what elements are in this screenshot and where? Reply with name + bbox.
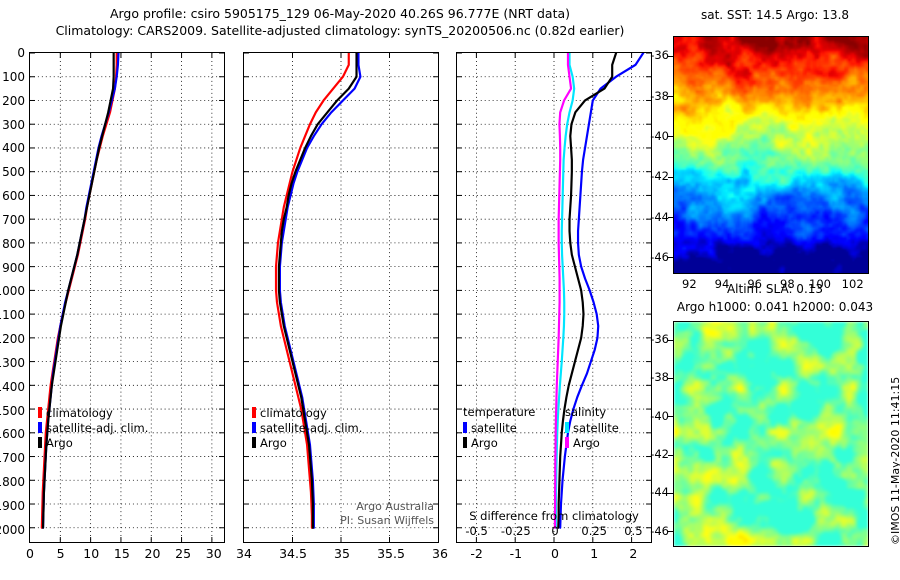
map-sla-lat-label: -36 [643, 332, 669, 346]
map-lat-tickmark [668, 416, 673, 417]
x-tick-label: 0 [26, 546, 34, 561]
legend-label: climatology [260, 406, 327, 420]
x-tick-label: 0.25 [581, 524, 607, 538]
legend-salinity-group: salinity satelliteArgo [565, 405, 619, 450]
legend-swatch [565, 437, 569, 448]
depth-tick-label: 200 [2, 94, 25, 108]
panel-salinity: climatologysatellite-adj. clim.Argo Argo… [243, 52, 439, 543]
panel-temperature-curves [30, 53, 224, 542]
x-tick-label: -2 [470, 546, 482, 561]
legend-item: Argo [463, 435, 535, 450]
map-sst-lat-label: -38 [643, 89, 669, 103]
x-tick-label: 34 [236, 546, 252, 561]
map-sst-lat-label: -46 [643, 250, 669, 264]
x-tick-label: 5 [57, 546, 65, 561]
legend-swatch [252, 407, 256, 418]
imos-credit: ©IMOS 11-May-2020 11:41:15 [889, 377, 900, 545]
map-lat-tickmark [668, 56, 673, 57]
panel-difference-bottom-label: S difference from climatology [469, 509, 639, 523]
x-tick-label: 25 [175, 546, 191, 561]
map-sst-lat-label: -44 [643, 210, 669, 224]
legend-label: satellite [573, 421, 619, 435]
legend-label: climatology [46, 406, 113, 420]
panel-temperature: climatologysatellite-adj. clim.Argo 0100… [29, 52, 225, 543]
x-tick-label: -0.25 [501, 524, 531, 538]
map-sla-lat-label: -46 [643, 524, 669, 538]
depth-tick-label: 1400 [0, 380, 25, 394]
legend-label: Argo [46, 436, 73, 450]
map-sla-title-line2: Argo h1000: 0.041 h2000: 0.043 [655, 300, 895, 314]
legend-label: Argo [471, 436, 498, 450]
depth-tick-label: 600 [2, 189, 25, 203]
page-title-line1: Argo profile: csiro 5905175_129 06-May-2… [0, 6, 680, 21]
legend-item: Argo [252, 435, 362, 450]
map-sla-lat-label: -40 [643, 409, 669, 423]
legend-swatch [463, 437, 467, 448]
legend-item: climatology [252, 405, 362, 420]
x-tick-label: 0 [551, 524, 558, 538]
map-lon-label: 98 [780, 277, 795, 291]
legend-label: satellite-adj. clim. [46, 421, 148, 435]
depth-tick-label: 300 [2, 118, 25, 132]
depth-tick-label: 2000 [0, 523, 25, 537]
depth-tick-label: 1200 [0, 332, 25, 346]
map-lat-tickmark [668, 177, 673, 178]
legend-temperature-group: temperature satelliteArgo [463, 405, 535, 450]
legend-label: satellite-adj. clim. [260, 421, 362, 435]
depth-tick-label: 0 [17, 46, 25, 60]
panel-salinity-curves [244, 53, 438, 542]
map-sla [673, 321, 869, 547]
map-lat-tickmark [668, 340, 673, 341]
map-sla-lat-label: -42 [643, 447, 669, 461]
depth-tick-label: 900 [2, 261, 25, 275]
argo-attribution-pi: PI: Susan Wijffels [340, 514, 434, 528]
argo-attribution: Argo Australia PI: Susan Wijffels [340, 500, 434, 528]
panel-difference: temperature satelliteArgo salinity satel… [456, 52, 652, 543]
map-lat-tickmark [668, 96, 673, 97]
legend-swatch [252, 422, 256, 433]
map-sst-lat-label: -36 [643, 48, 669, 62]
legend-swatch [38, 437, 42, 448]
depth-tick-label: 700 [2, 213, 25, 227]
map-sst-lat-label: -42 [643, 169, 669, 183]
depth-tick-label: 1100 [0, 308, 25, 322]
legend-salinity-title: salinity [565, 405, 619, 419]
map-lon-label: 102 [842, 277, 864, 291]
map-lon-label: 100 [809, 277, 831, 291]
panel-temperature-legend: climatologysatellite-adj. clim.Argo [38, 405, 148, 450]
x-tick-label: 36 [432, 546, 448, 561]
legend-swatch [38, 407, 42, 418]
legend-label: satellite [471, 421, 517, 435]
x-tick-label: 35.5 [377, 546, 405, 561]
depth-tick-label: 1600 [0, 427, 25, 441]
map-lat-tickmark [668, 378, 673, 379]
map-sst [673, 36, 869, 274]
depth-tick-label: 500 [2, 165, 25, 179]
map-sla-lat-label: -38 [643, 370, 669, 384]
legend-item: satellite [463, 420, 535, 435]
x-tick-label: 0.5 [624, 524, 642, 538]
x-tick-label: -0.5 [465, 524, 487, 538]
map-lon-label: 92 [682, 277, 697, 291]
page-title-line2: Climatology: CARS2009. Satellite-adjuste… [0, 23, 680, 38]
map-sst-title: sat. SST: 14.5 Argo: 13.8 [660, 8, 890, 22]
legend-item: satellite-adj. clim. [38, 420, 148, 435]
legend-item: climatology [38, 405, 148, 420]
map-sst-lat-label: -40 [643, 129, 669, 143]
x-tick-label: 20 [145, 546, 161, 561]
map-lat-tickmark [668, 257, 673, 258]
map-lon-label: 96 [747, 277, 762, 291]
x-tick-label: 34.5 [279, 546, 307, 561]
legend-item: Argo [38, 435, 148, 450]
legend-swatch [463, 422, 467, 433]
depth-tick-label: 1700 [0, 451, 25, 465]
depth-tick-label: 1300 [0, 356, 25, 370]
legend-item: Argo [565, 435, 619, 450]
depth-tick-label: 400 [2, 141, 25, 155]
x-tick-label: 15 [114, 546, 130, 561]
x-tick-label: 10 [83, 546, 99, 561]
map-lat-tickmark [668, 136, 673, 137]
legend-swatch [565, 422, 569, 433]
x-tick-label: 1 [590, 546, 598, 561]
legend-item: satellite-adj. clim. [252, 420, 362, 435]
x-tick-label: 0 [551, 546, 559, 561]
x-tick-label: -1 [510, 546, 522, 561]
map-sst-canvas [674, 37, 868, 273]
depth-tick-label: 1000 [0, 284, 25, 298]
legend-label: Argo [573, 436, 600, 450]
legend-swatch [252, 437, 256, 448]
map-lon-label: 94 [715, 277, 730, 291]
x-tick-label: 30 [206, 546, 222, 561]
argo-attribution-org: Argo Australia [340, 500, 434, 514]
legend-label: Argo [260, 436, 287, 450]
map-lat-tickmark [668, 217, 673, 218]
legend-temperature-title: temperature [463, 405, 535, 419]
legend-item: satellite [565, 420, 619, 435]
panel-salinity-legend: climatologysatellite-adj. clim.Argo [252, 405, 362, 450]
depth-tick-label: 100 [2, 70, 25, 84]
map-sla-canvas [674, 322, 868, 546]
x-tick-label: 2 [629, 546, 637, 561]
depth-tick-label: 1800 [0, 475, 25, 489]
x-tick-label: 35 [334, 546, 350, 561]
map-lat-tickmark [668, 455, 673, 456]
depth-tick-label: 1500 [0, 404, 25, 418]
map-lat-tickmark [668, 493, 673, 494]
map-lat-tickmark [668, 531, 673, 532]
map-sla-lat-label: -44 [643, 485, 669, 499]
panel-difference-curves [457, 53, 651, 542]
depth-tick-label: 1900 [0, 499, 25, 513]
depth-tick-label: 800 [2, 237, 25, 251]
legend-swatch [38, 422, 42, 433]
